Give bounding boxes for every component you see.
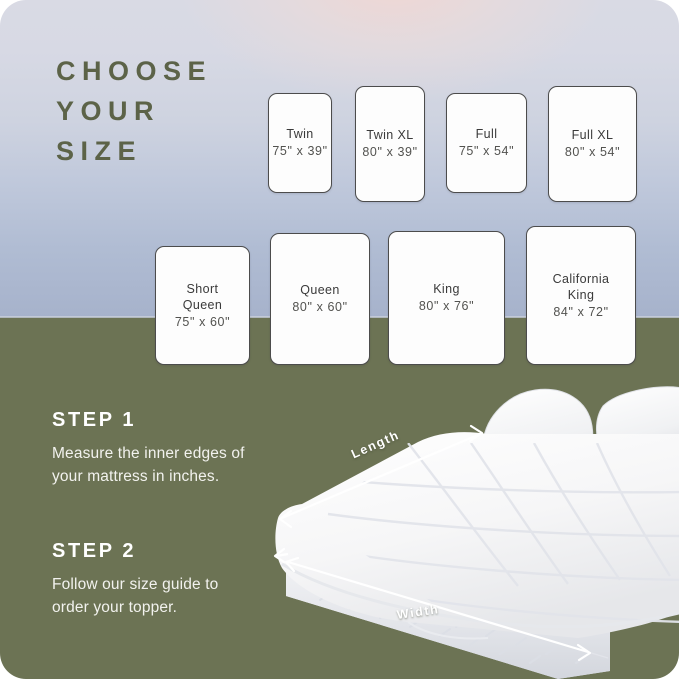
size-card-dimensions: 80" x 60"	[292, 299, 347, 316]
size-card-full[interactable]: Full 75" x 54"	[446, 93, 527, 193]
size-card-name: California King	[553, 271, 610, 303]
size-card-name: Full XL	[572, 127, 614, 143]
page-title-line-2: YOUR	[56, 91, 266, 131]
size-card-name: Twin	[286, 126, 313, 142]
size-card-name: Short Queen	[183, 281, 223, 313]
page-title-line-1: CHOOSE	[56, 51, 266, 91]
mattress-topper-illustration	[258, 386, 679, 679]
size-card-short-queen[interactable]: Short Queen 75" x 60"	[155, 246, 250, 365]
size-card-full-xl[interactable]: Full XL 80" x 54"	[548, 86, 637, 202]
size-card-queen[interactable]: Queen 80" x 60"	[270, 233, 370, 365]
size-card-name: Queen	[300, 282, 340, 298]
size-card-dimensions: 80" x 76"	[419, 298, 474, 315]
size-card-dimensions: 80" x 39"	[362, 144, 417, 161]
page-title-line-3: SIZE	[56, 131, 266, 171]
size-card-name: King	[433, 281, 460, 297]
size-card-dimensions: 84" x 72"	[553, 304, 608, 321]
size-guide-infographic: CHOOSE YOUR SIZE Twin 75" x 39" Twin XL …	[0, 0, 679, 679]
size-card-dimensions: 80" x 54"	[565, 144, 620, 161]
size-card-dimensions: 75" x 54"	[459, 143, 514, 160]
size-card-twin-xl[interactable]: Twin XL 80" x 39"	[355, 86, 425, 202]
size-card-name: Full	[476, 126, 498, 142]
size-card-king[interactable]: King 80" x 76"	[388, 231, 505, 365]
size-card-name: Twin XL	[366, 127, 413, 143]
size-card-twin[interactable]: Twin 75" x 39"	[268, 93, 332, 193]
page-title: CHOOSE YOUR SIZE	[56, 51, 266, 171]
size-card-california-king[interactable]: California King 84" x 72"	[526, 226, 636, 365]
size-card-dimensions: 75" x 60"	[175, 314, 230, 331]
size-card-dimensions: 75" x 39"	[272, 143, 327, 160]
